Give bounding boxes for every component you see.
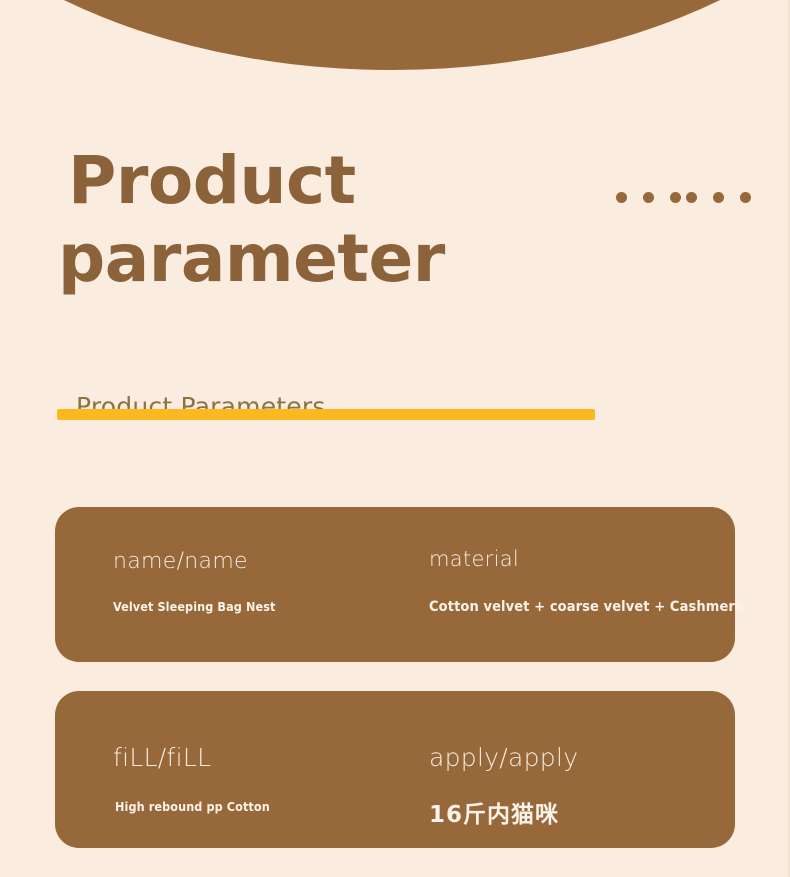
title-line-product: Product (68, 148, 356, 214)
page-title: Product parameter (0, 132, 790, 322)
parameter-label: fiLL/fiLL (113, 743, 211, 772)
parameter-value: Velvet Sleeping Bag Nest (113, 599, 275, 614)
top-banner (0, 0, 784, 120)
dot-group-left (616, 192, 681, 203)
dot-icon (686, 192, 697, 203)
parameter-value: High rebound pp Cotton (115, 799, 270, 814)
parameter-value: 16斤内猫咪 (429, 795, 559, 829)
title-line-parameter: parameter (58, 226, 445, 292)
parameter-label: material (429, 547, 519, 571)
dot-icon (713, 192, 724, 203)
dot-group-right (686, 192, 751, 203)
parameter-card-fill-apply: fiLL/fiLL High rebound pp Cotton apply/a… (55, 691, 735, 848)
parameter-label: name/name (113, 549, 248, 574)
dot-icon (740, 192, 751, 203)
dot-icon (643, 192, 654, 203)
dot-icon (616, 192, 627, 203)
dot-icon (670, 192, 681, 203)
parameter-value: Cotton velvet + coarse velvet + Cashmere (429, 599, 744, 615)
parameter-label: apply/apply (429, 743, 578, 772)
banner-arc-shape (0, 0, 784, 70)
product-parameter-page: Product parameter Product Parameters nam… (0, 0, 790, 877)
parameter-card-name-material: name/name Velvet Sleeping Bag Nest mater… (55, 507, 735, 662)
title-underline-bar (57, 409, 595, 420)
